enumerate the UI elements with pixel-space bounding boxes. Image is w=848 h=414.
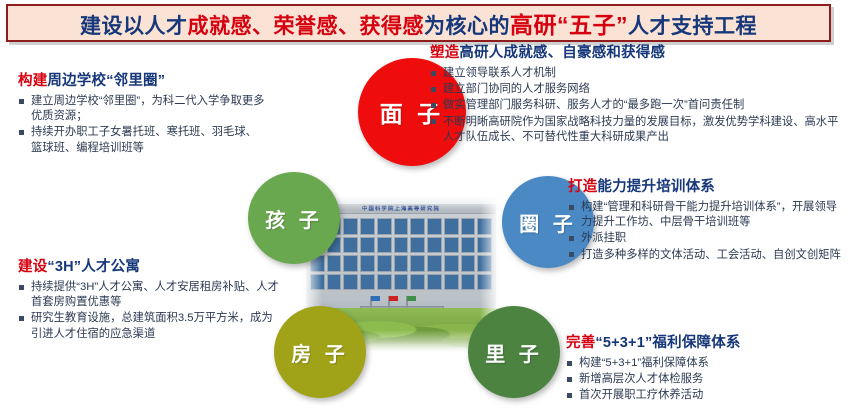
photo-flag-red bbox=[389, 296, 398, 301]
photo-flag-blue bbox=[371, 296, 380, 301]
section-heading-housing: 建设“3H”人才公寓 bbox=[18, 258, 280, 276]
section-heading-welfare: 完善“5+3+1”福利保障体系 bbox=[566, 334, 848, 352]
list-item: 研究生教育设施，总建筑面积3.5万平方米，成为引进人才住宿的应急渠道 bbox=[18, 311, 280, 341]
list-item: 做实管理部门服务科研、服务人才的“最多跑一次”首问责任制 bbox=[430, 98, 842, 113]
list-item: 外派挂职 bbox=[568, 231, 846, 246]
heading-accent: 完善 bbox=[566, 335, 595, 351]
list-item: 首次开展职工疗休养活动 bbox=[566, 388, 848, 403]
list-item: 打造多种多样的文体活动、工会活动、自创文创矩阵 bbox=[568, 248, 846, 263]
title-segment-4-red: 高研 bbox=[510, 12, 557, 38]
list-item: 建立周边学校“邻里圈”，为科二代入学争取更多优质资源； bbox=[18, 94, 268, 124]
list-item: 不断明晰高研院作为国家战略科技力量的发展目标，激发优势学科建设、高水平人才队伍成… bbox=[430, 115, 842, 145]
bubble-fangzi[interactable]: 房 子 bbox=[274, 306, 366, 398]
section-sense-of-achievement: 塑造高研人成就感、自豪感和获得感 建立领导联系人才机制 建立部门协同的人才服务网… bbox=[430, 44, 842, 146]
title-segment-1: 建设以人才 bbox=[80, 15, 188, 38]
section-bullet-list-neighbor: 建立周边学校“邻里圈”，为科二代入学争取更多优质资源； 持续开办职工子女暑托班、… bbox=[18, 94, 268, 156]
photo-window-row bbox=[310, 255, 492, 272]
section-welfare-guarantee-system: 完善“5+3+1”福利保障体系 构建“5+3+1”福利保障体系 新增高层次人才体… bbox=[566, 334, 848, 405]
heading-rest: 能力提升培训体系 bbox=[597, 179, 715, 195]
slide-title-banner: 建设以人才成就感、荣誉感、获得感为核心的高研“五子”人才支持工程 bbox=[6, 4, 831, 42]
heading-accent: 建设 bbox=[18, 259, 47, 275]
slide-title: 建设以人才成就感、荣誉感、获得感为核心的高研“五子”人才支持工程 bbox=[80, 6, 757, 40]
section-bullet-list-face: 建立领导联系人才机制 建立部门协同的人才服务网络 做实管理部门服务科研、服务人才… bbox=[430, 66, 842, 145]
heading-accent: 打造 bbox=[568, 179, 597, 195]
heading-rest: “3H”人才公寓 bbox=[47, 259, 140, 275]
section-bullet-list-welfare: 构建“5+3+1”福利保障体系 新增高层次人才体检服务 首次开展职工疗休养活动 bbox=[566, 356, 848, 403]
heading-rest: 周边学校“邻里圈” bbox=[47, 73, 165, 89]
bubble-haizi[interactable]: 孩 子 bbox=[248, 172, 340, 264]
photo-window-row bbox=[310, 274, 492, 291]
section-heading-face: 塑造高研人成就感、自豪感和获得感 bbox=[430, 44, 842, 62]
title-segment-3: 为核心的 bbox=[424, 15, 510, 38]
heading-accent: 塑造 bbox=[430, 45, 459, 61]
heading-rest: 高研人成就感、自豪感和获得感 bbox=[459, 45, 665, 61]
list-item: 构建“5+3+1”福利保障体系 bbox=[566, 356, 848, 371]
list-item: 持续提供“3H”人才公寓、人才安居租房补贴、人才首套房购置优惠等 bbox=[18, 280, 280, 310]
list-item: 建立部门协同的人才服务网络 bbox=[430, 82, 842, 97]
section-3h-talent-apartment: 建设“3H”人才公寓 持续提供“3H”人才公寓、人才安居租房补贴、人才首套房购置… bbox=[18, 258, 280, 343]
section-neighbor-school-circle: 构建周边学校“邻里圈” 建立周边学校“邻里圈”，为科二代入学争取更多优质资源； … bbox=[18, 72, 268, 157]
slide-canvas: 建设以人才成就感、荣誉感、获得感为核心的高研“五子”人才支持工程 中国科学院上海… bbox=[0, 0, 848, 414]
bubble-lizi[interactable]: 里 子 bbox=[468, 306, 560, 398]
title-segment-2-red: 成就感、荣誉感、获得感 bbox=[188, 15, 425, 38]
section-heading-training: 打造能力提升培训体系 bbox=[568, 178, 846, 196]
section-capability-training-system: 打造能力提升培训体系 构建“管理和科研骨干能力提升培训体系”，开展领导力提升工作… bbox=[568, 178, 846, 264]
list-item: 新增高层次人才体检服务 bbox=[566, 372, 848, 387]
heading-rest: “5+3+1”福利保障体系 bbox=[595, 335, 740, 351]
section-bullet-list-housing: 持续提供“3H”人才公寓、人才安居租房补贴、人才首套房购置优惠等 研究生教育设施… bbox=[18, 280, 280, 342]
list-item: 持续开办职工子女暑托班、寒托班、羽毛球、篮球班、编程培训班等 bbox=[18, 125, 268, 155]
list-item: 建立领导联系人才机制 bbox=[430, 66, 842, 81]
list-item: 构建“管理和科研骨干能力提升培训体系”，开展领导力提升工作坊、中层骨干培训班等 bbox=[568, 200, 846, 230]
photo-window-row bbox=[310, 237, 492, 254]
photo-flag-green bbox=[407, 296, 416, 301]
title-segment-5-red: “五子” bbox=[557, 12, 628, 38]
title-segment-6: 人才支持工程 bbox=[628, 15, 757, 38]
section-bullet-list-training: 构建“管理和科研骨干能力提升培训体系”，开展领导力提升工作坊、中层骨干培训班等 … bbox=[568, 200, 846, 263]
section-heading-neighbor: 构建周边学校“邻里圈” bbox=[18, 72, 268, 90]
heading-accent: 构建 bbox=[18, 73, 47, 89]
